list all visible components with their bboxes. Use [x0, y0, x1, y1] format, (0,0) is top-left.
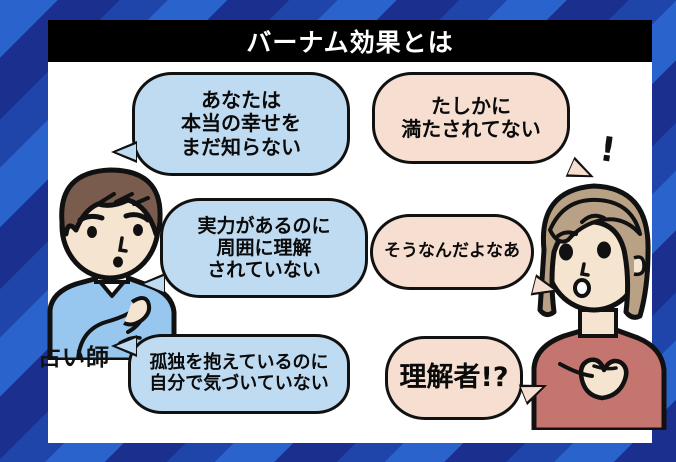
bubble-tail [139, 273, 165, 295]
bubble-tail [111, 335, 137, 357]
bubble-line: 孤独を抱えているのに [149, 353, 328, 374]
bubble-loneliness: 孤独を抱えているのに 自分で気づいていない [128, 334, 350, 414]
bubble-line: あなたは [201, 89, 281, 112]
bubble-understander: 理解者!? [385, 336, 523, 420]
bubble-indeed: たしかに 満たされてない [372, 72, 570, 164]
bubble-line: 満たされてない [401, 118, 540, 141]
fortune-teller-figure [28, 160, 178, 360]
illustration-canvas: バーナム効果とは [0, 0, 676, 462]
fortune-teller-label: 占い師 [38, 338, 110, 372]
title-bar: バーナム効果とは [48, 20, 652, 62]
bubble-line: まだ知らない [181, 136, 301, 159]
bubble-line: 周囲に理解 [216, 237, 311, 259]
bubble-line: されていない [207, 259, 320, 281]
bubble-line: 実力があるのに [197, 215, 330, 237]
page-title: バーナム効果とは [246, 23, 453, 59]
bubble-ability: 実力があるのに 周囲に理解 されていない [160, 198, 368, 298]
bubble-agree: そうなんだよなあ [370, 214, 534, 290]
bubble-line: 理解者!? [400, 362, 509, 393]
bubble-tail [111, 141, 137, 163]
bubble-line: 自分で気づいていない [149, 374, 328, 395]
bubble-line: そうなんだよなあ [384, 242, 520, 262]
bubble-line: たしかに [431, 95, 511, 118]
bubble-happiness: あなたは 本当の幸せを まだ知らない [132, 72, 350, 176]
bubble-line: 本当の幸せを [181, 112, 301, 135]
